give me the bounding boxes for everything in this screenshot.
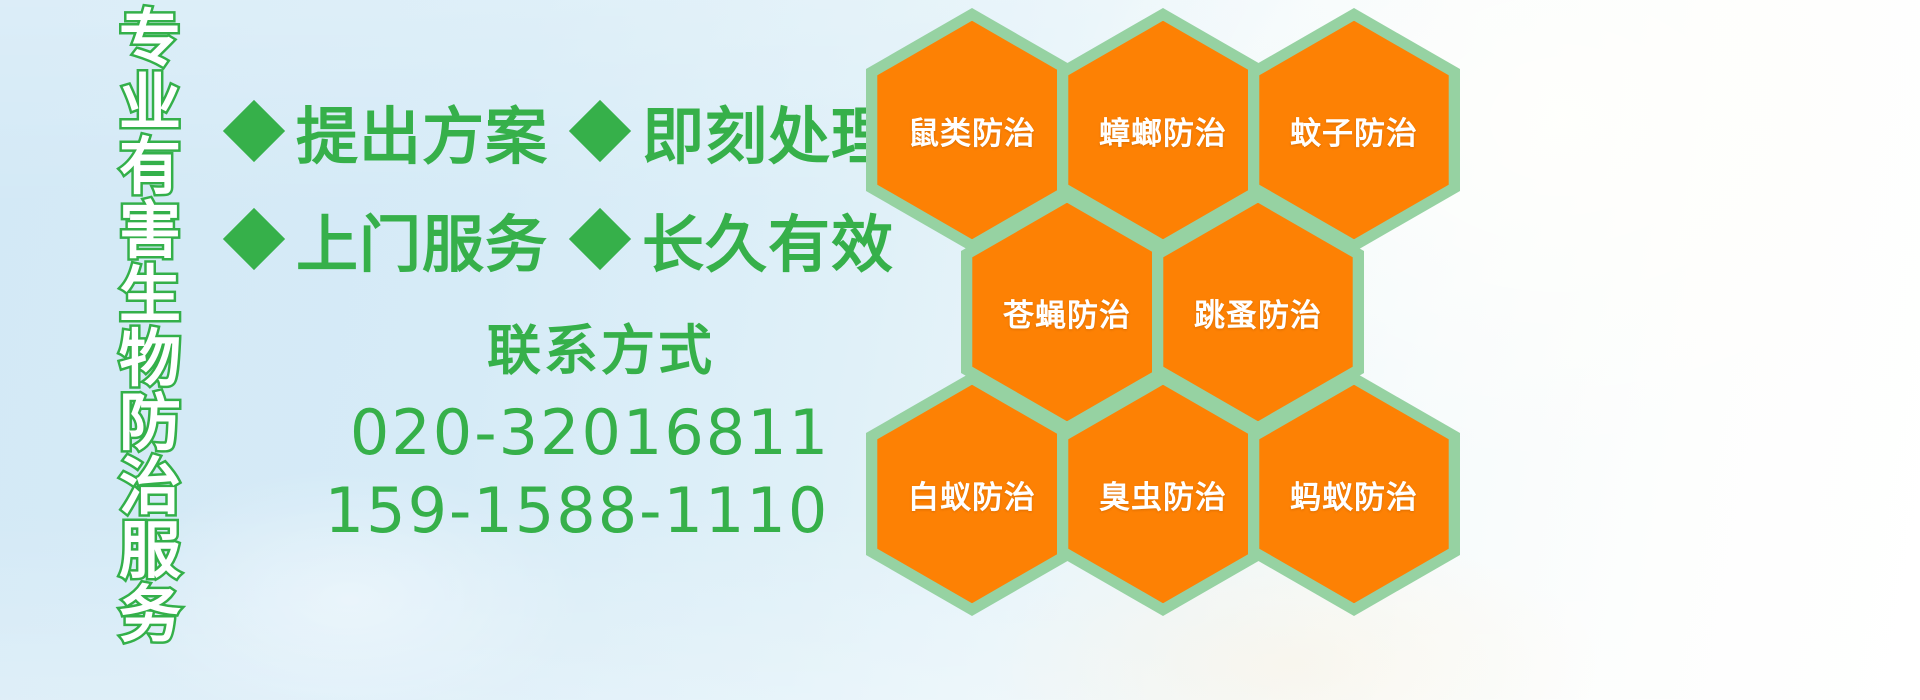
service-hexagon-ant[interactable]: 蚂蚁防治 — [1248, 372, 1460, 616]
feature-label: 提出方案 — [296, 86, 548, 176]
service-label: 臭虫防治 — [1057, 372, 1269, 616]
vertical-headline-char: 治 — [119, 456, 181, 520]
contact-label: 联系方式 — [342, 320, 860, 382]
service-hexagon-termite[interactable]: 白蚁防治 — [866, 372, 1078, 616]
phone-number-landline[interactable]: 020-32016811 — [320, 394, 860, 472]
diamond-icon — [569, 100, 631, 162]
feature-label: 即刻处理 — [642, 86, 894, 176]
vertical-headline-char: 防 — [119, 392, 181, 456]
feature-row-1: 提出方案 即刻处理 — [232, 86, 894, 176]
vertical-headline-char: 有 — [119, 136, 181, 200]
service-hexagon-bedbug[interactable]: 臭虫防治 — [1057, 372, 1269, 616]
phone-number-mobile[interactable]: 159-1588-1110 — [294, 472, 860, 550]
contact-block: 联系方式 020-32016811 159-1588-1110 — [300, 320, 860, 550]
vertical-headline-char: 务 — [119, 584, 181, 648]
service-label: 蚂蚁防治 — [1248, 372, 1460, 616]
diamond-icon — [569, 208, 631, 270]
diamond-icon — [223, 208, 285, 270]
feature-label: 长久有效 — [642, 194, 894, 284]
diamond-icon — [223, 100, 285, 162]
vertical-headline-char: 生 — [119, 264, 181, 328]
feature-label: 上门服务 — [296, 194, 548, 284]
vertical-headline-char: 专 — [119, 8, 181, 72]
vertical-headline-char: 业 — [119, 72, 181, 136]
feature-row-2: 上门服务 长久有效 — [232, 194, 894, 284]
vertical-headline: 专 业 有 害 生 物 防 治 服 务 — [104, 8, 196, 588]
vertical-headline-char: 害 — [119, 200, 181, 264]
service-label: 白蚁防治 — [866, 372, 1078, 616]
promo-banner: 专 业 有 害 生 物 防 治 服 务 提出方案 即刻处理 上门服务 长久有效 … — [0, 0, 1920, 700]
vertical-headline-char: 服 — [119, 520, 181, 584]
vertical-headline-char: 物 — [119, 328, 181, 392]
